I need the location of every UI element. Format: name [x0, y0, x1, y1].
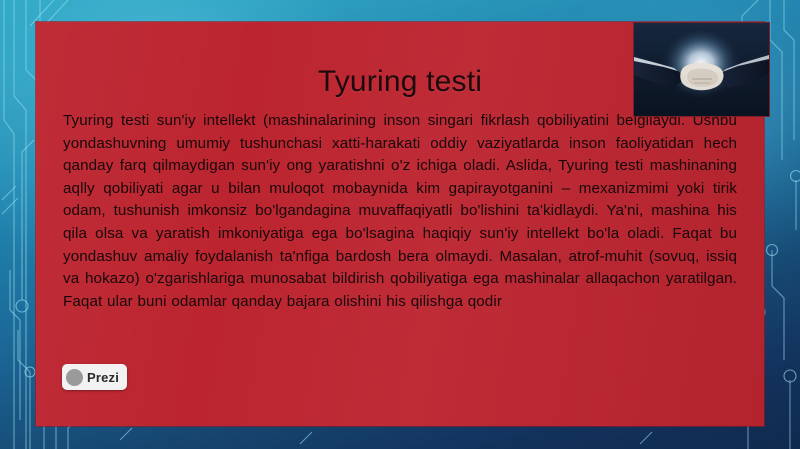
- slide-paragraph: Tyuring testi sun'iy intellekt (mashinal…: [63, 110, 737, 313]
- prezi-label: Prezi: [87, 371, 119, 384]
- handshake-image: [633, 22, 770, 117]
- slide-panel[interactable]: Tyuring testi Tyuring testi sun'iy intel…: [36, 22, 764, 426]
- slide-body-text: Tyuring testi sun'iy intellekt (mashinal…: [63, 110, 737, 313]
- prezi-logo-icon: [66, 369, 83, 386]
- presentation-viewport: Tyuring testi Tyuring testi sun'iy intel…: [0, 0, 800, 449]
- handshake-illustration: [634, 23, 769, 116]
- prezi-badge[interactable]: Prezi: [62, 364, 127, 390]
